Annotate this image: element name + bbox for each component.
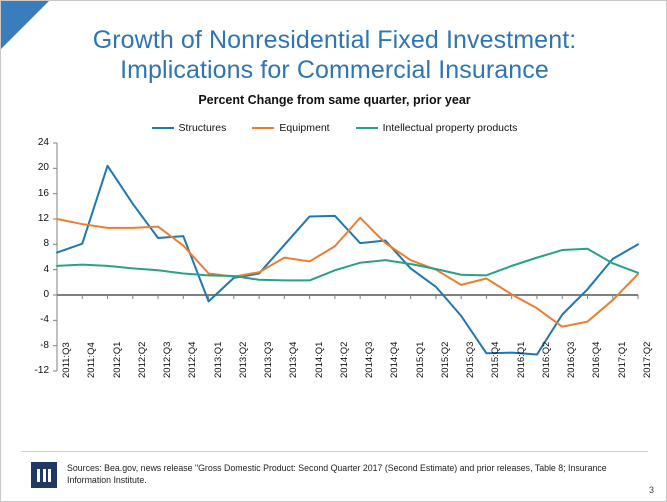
page-number: 3	[649, 485, 654, 495]
x-axis-tick-label: 2012:Q3	[162, 342, 173, 378]
y-axis-tick-label: 12	[23, 213, 49, 224]
x-axis-tick-label: 2016:Q3	[566, 342, 577, 378]
iii-logo-icon	[31, 462, 57, 488]
x-axis-tick-label: 2016:Q4	[591, 342, 602, 378]
x-axis-tick-label: 2014:Q2	[339, 342, 350, 378]
x-axis-tick-label: 2013:Q3	[263, 342, 274, 378]
footer: Sources: Bea.gov, news release "Gross Do…	[31, 462, 627, 488]
line-chart: 24201612840-4-8-12 2011:Q32011:Q42012:Q1…	[1, 1, 667, 502]
x-axis-tick-label: 2017:Q2	[642, 342, 653, 378]
x-axis-tick-label: 2012:Q2	[137, 342, 148, 378]
x-axis-tick-label: 2013:Q4	[288, 342, 299, 378]
y-axis-tick-label: 20	[23, 162, 49, 173]
source-note: Sources: Bea.gov, news release "Gross Do…	[67, 462, 627, 486]
x-axis-tick-label: 2011:Q4	[86, 342, 97, 378]
y-axis-tick-label: 8	[23, 238, 49, 249]
x-axis-tick-label: 2015:Q4	[490, 342, 501, 378]
footer-divider	[21, 451, 648, 452]
y-axis-tick-label: -12	[23, 365, 49, 376]
x-axis-tick-label: 2013:Q1	[213, 342, 224, 378]
x-axis-tick-label: 2011:Q3	[61, 342, 72, 378]
y-axis-tick-label: 4	[23, 264, 49, 275]
x-axis-tick-label: 2015:Q2	[440, 342, 451, 378]
x-axis-tick-label: 2016:Q1	[516, 342, 527, 378]
y-axis-tick-label: -8	[23, 340, 49, 351]
y-axis-tick-label: 16	[23, 188, 49, 199]
x-axis-tick-label: 2013:Q2	[238, 342, 249, 378]
x-axis-tick-label: 2014:Q1	[314, 342, 325, 378]
y-axis-tick-label: 0	[23, 289, 49, 300]
x-axis-tick-label: 2016:Q2	[541, 342, 552, 378]
x-axis-tick-label: 2014:Q3	[364, 342, 375, 378]
x-axis-tick-label: 2017:Q1	[617, 342, 628, 378]
slide: Growth of Nonresidential Fixed Investmen…	[0, 0, 667, 502]
x-axis-tick-label: 2015:Q1	[415, 342, 426, 378]
x-axis-tick-label: 2012:Q4	[187, 342, 198, 378]
x-axis-tick-label: 2014:Q4	[389, 342, 400, 378]
y-axis-tick-label: 24	[23, 137, 49, 148]
chart-svg	[1, 1, 667, 502]
x-axis-tick-label: 2012:Q1	[112, 342, 123, 378]
y-axis-tick-label: -4	[23, 314, 49, 325]
x-axis-tick-label: 2015:Q3	[465, 342, 476, 378]
